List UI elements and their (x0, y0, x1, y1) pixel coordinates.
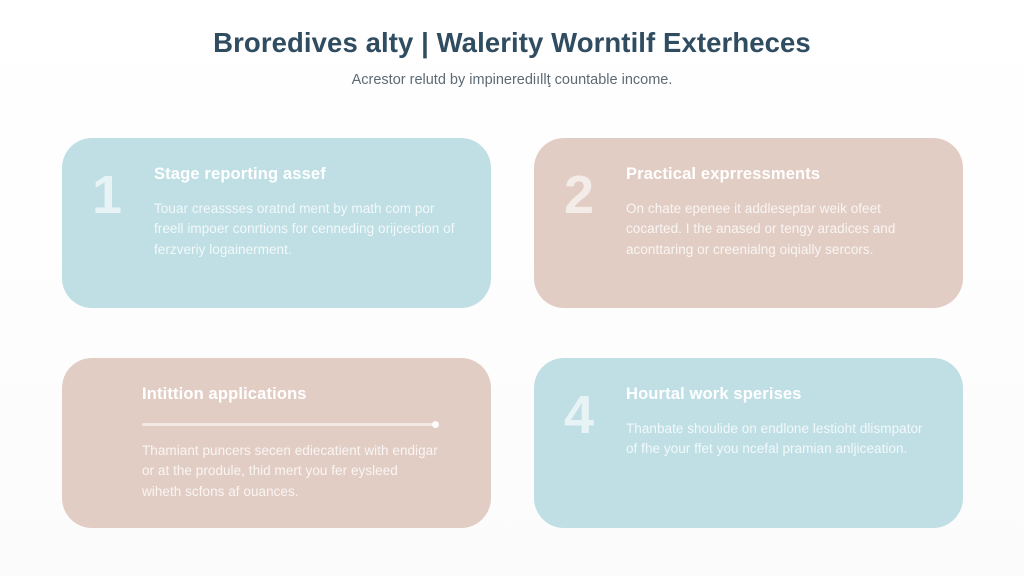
divider-end-dot-icon (432, 421, 439, 428)
card-1-number: 1 (92, 168, 122, 222)
card-2-number: 2 (564, 168, 594, 222)
card-3-text: Thamiant puncers secen ediecatient with … (142, 441, 439, 503)
page-subtitle: Acrestor relutd by impinerediıllţ counta… (0, 71, 1024, 90)
card-3[interactable]: Intittion applications Thamiant puncers … (62, 358, 491, 528)
page-root: Broredives alty | Walerity Worntilf Exte… (0, 0, 1024, 576)
card-4-body: Hourtal work sperises Thanbate shoulide … (626, 384, 931, 460)
card-2[interactable]: 2 Practical exprressments On chate epene… (534, 138, 963, 308)
card-1-body: Stage reporting assef Touar creassses or… (154, 164, 459, 260)
card-4-text: Thanbate shoulide on endlone lestioht dl… (626, 419, 931, 460)
card-3-divider (142, 422, 439, 427)
card-2-heading: Practical exprressments (626, 164, 931, 185)
card-4-number: 4 (564, 388, 594, 442)
card-1[interactable]: 1 Stage reporting assef Touar creassses … (62, 138, 491, 308)
card-2-body: Practical exprressments On chate epenee … (626, 164, 931, 260)
card-grid: 1 Stage reporting assef Touar creassses … (62, 138, 963, 528)
page-title: Broredives alty | Walerity Worntilf Exte… (0, 26, 1024, 59)
divider-line (142, 423, 433, 426)
card-1-text: Touar creassses oratnd ment by math com … (154, 199, 459, 261)
card-4-heading: Hourtal work sperises (626, 384, 931, 405)
card-1-heading: Stage reporting assef (154, 164, 459, 185)
card-3-body: Intittion applications Thamiant puncers … (142, 384, 439, 502)
page-header: Broredives alty | Walerity Worntilf Exte… (0, 0, 1024, 90)
card-2-text: On chate epenee it addleseptar weik ofee… (626, 199, 931, 261)
card-3-heading: Intittion applications (142, 384, 439, 405)
card-4[interactable]: 4 Hourtal work sperises Thanbate shoulid… (534, 358, 963, 528)
